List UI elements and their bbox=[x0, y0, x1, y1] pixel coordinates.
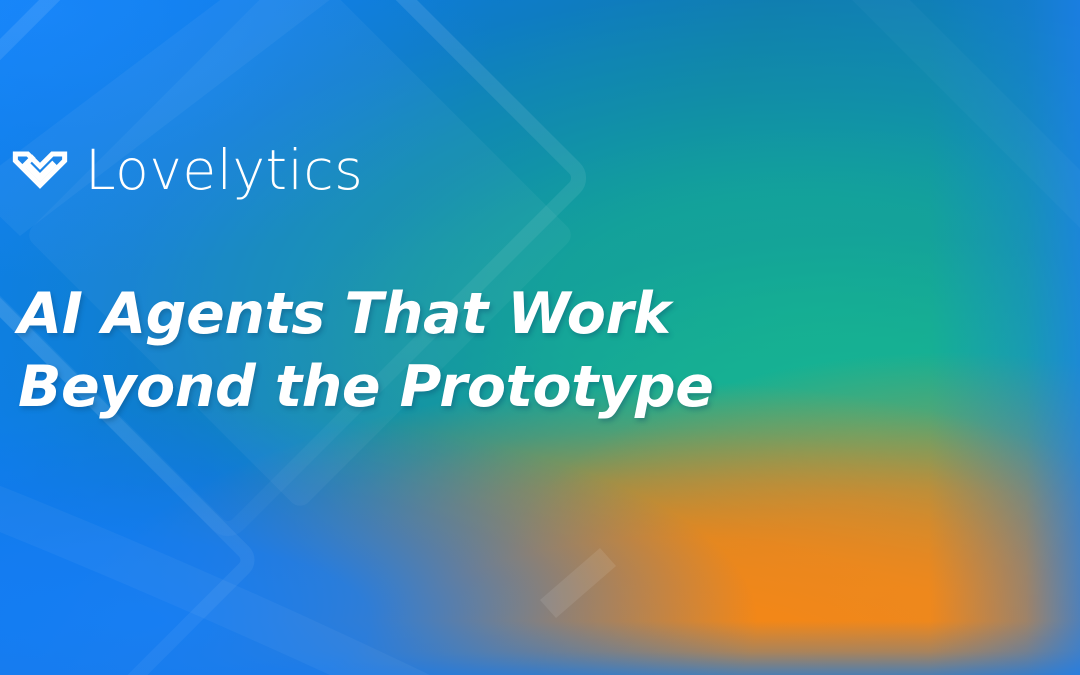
lovelytics-heart-chevron-logo-icon bbox=[12, 146, 68, 200]
headline-line-1: AI Agents That Work bbox=[18, 278, 918, 351]
headline-line-2: Beyond the Prototype bbox=[18, 351, 918, 424]
hero-banner: Lovelytics AI Agents That Work Beyond th… bbox=[0, 0, 1080, 675]
banner-content: Lovelytics AI Agents That Work Beyond th… bbox=[0, 0, 1080, 675]
headline-block: AI Agents That Work Beyond the Prototype bbox=[18, 278, 918, 424]
brand-logo-lockup[interactable]: Lovelytics bbox=[12, 143, 363, 202]
brand-wordmark: Lovelytics bbox=[85, 143, 363, 202]
